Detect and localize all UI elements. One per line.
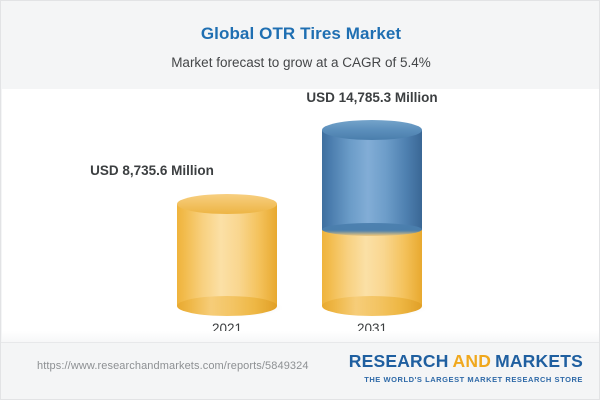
cylinder-body-blue-2031	[322, 130, 422, 230]
cylinder-top-ellipse-2031	[322, 120, 422, 140]
cylinder-bottom-ellipse-2031	[322, 296, 422, 316]
cylinder-body-gold-2031	[322, 228, 422, 306]
report-url[interactable]: https://www.researchandmarkets.com/repor…	[37, 360, 309, 372]
logo-tagline: THE WORLD'S LARGEST MARKET RESEARCH STOR…	[349, 372, 583, 385]
bar-group-2031: USD 14,785.3 Million 2031	[300, 89, 600, 345]
chart-header: Global OTR Tires Market Market forecast …	[1, 1, 600, 89]
cylinder-bottom-ellipse-2021	[177, 296, 277, 316]
logo-word-and: AND	[449, 351, 496, 371]
cylinder-body-gold-2021	[177, 204, 277, 306]
logo-word-markets: MARKETS	[495, 351, 583, 371]
logo-wordmark: RESEARCHANDMARKETS	[349, 351, 583, 372]
report-chart-card: Global OTR Tires Market Market forecast …	[0, 0, 600, 400]
cylinder-2021[interactable]	[177, 194, 277, 314]
cylinder-segment-seam-2031	[322, 223, 422, 236]
bar-value-label-2021: USD 8,735.6 Million	[77, 163, 227, 179]
chart-title: Global OTR Tires Market	[1, 1, 600, 45]
chart-plot-area: USD 8,735.6 Million 2021 USD 14,785.3 Mi…	[2, 89, 600, 345]
category-label-2021: 2021	[177, 321, 277, 337]
cylinder-2031[interactable]	[322, 120, 422, 314]
research-and-markets-logo[interactable]: RESEARCHANDMARKETS THE WORLD'S LARGEST M…	[349, 351, 583, 385]
bar-group-2021: USD 8,735.6 Million 2021	[2, 89, 300, 345]
chart-subtitle: Market forecast to grow at a CAGR of 5.4…	[1, 45, 600, 72]
category-label-2031: 2031	[322, 321, 422, 337]
cylinder-top-ellipse-2021	[177, 194, 277, 214]
bar-value-label-2031: USD 14,785.3 Million	[297, 90, 447, 106]
chart-footer: https://www.researchandmarkets.com/repor…	[1, 342, 600, 399]
logo-word-research: RESEARCH	[349, 351, 449, 371]
